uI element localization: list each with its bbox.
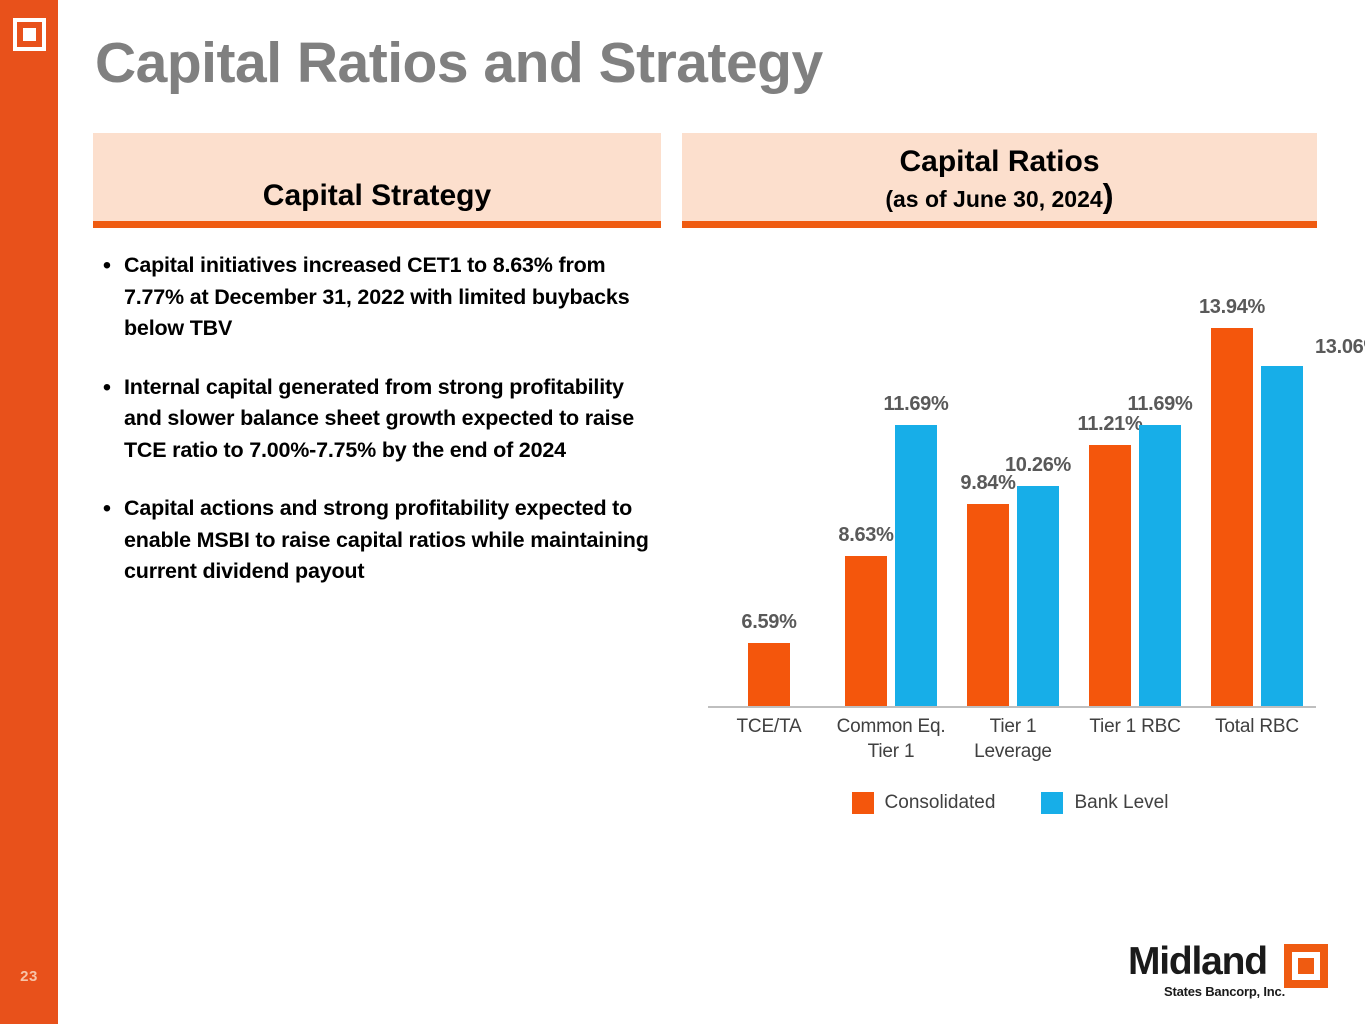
x-axis-label: TCE/TA xyxy=(708,714,830,739)
page-title: Capital Ratios and Strategy xyxy=(95,30,823,96)
bar-value-label: 6.59% xyxy=(741,611,796,634)
legend-swatch-consolidated xyxy=(852,792,874,814)
bar-bank-level: 11.69% xyxy=(895,425,937,707)
company-logo: Midland States Bancorp, Inc. xyxy=(1128,938,1328,1008)
bar-consolidated: 9.84% xyxy=(967,504,1009,707)
capital-ratios-heading: Capital Ratios xyxy=(899,142,1099,178)
bar-bank-level: 13.06% xyxy=(1261,366,1303,707)
bar-group: 8.63%11.69% xyxy=(830,300,952,707)
chart-x-axis-labels: TCE/TACommon Eq.Tier 1Tier 1LeverageTier… xyxy=(708,714,1318,784)
bar-value-label: 11.69% xyxy=(884,393,949,416)
x-axis-label: Common Eq.Tier 1 xyxy=(830,714,952,764)
capital-strategy-panel: Capital Strategy xyxy=(93,133,661,228)
capital-strategy-bullet-list: • Capital initiatives increased CET1 to … xyxy=(90,250,660,615)
page-number: 23 xyxy=(0,968,58,985)
list-item: • Capital initiatives increased CET1 to … xyxy=(90,250,660,345)
legend-label-bank-level: Bank Level xyxy=(1074,792,1168,814)
list-item: • Internal capital generated from strong… xyxy=(90,372,660,467)
x-axis-label: Total RBC xyxy=(1196,714,1318,739)
bar-value-label: 11.21% xyxy=(1078,413,1143,436)
list-item: • Capital actions and strong profitabili… xyxy=(90,493,660,588)
list-item-text: Internal capital generated from strong p… xyxy=(124,372,660,467)
x-axis-label: Tier 1 RBC xyxy=(1074,714,1196,739)
bar-value-label: 13.94% xyxy=(1199,296,1265,319)
bar-consolidated: 6.59% xyxy=(748,643,790,707)
bar-value-label: 10.26% xyxy=(1005,454,1071,477)
bar-group: 13.94%13.06% xyxy=(1196,300,1318,707)
list-item-text: Capital actions and strong profitability… xyxy=(124,493,660,588)
bar-consolidated: 13.94% xyxy=(1211,328,1253,707)
bullet-marker-icon: • xyxy=(90,493,124,588)
chart-axis-line xyxy=(708,706,1316,708)
square-in-square-icon xyxy=(1284,944,1328,988)
capital-ratios-subheading: (as of June 30, 2024) xyxy=(885,177,1113,221)
bar-consolidated: 8.63% xyxy=(845,556,887,708)
bar-consolidated: 11.21% xyxy=(1089,445,1131,707)
bar-value-label: 13.06% xyxy=(1315,336,1365,359)
capital-ratios-panel: Capital Ratios (as of June 30, 2024) xyxy=(682,133,1317,228)
square-in-square-icon xyxy=(13,18,46,51)
bar-bank-level: 11.69% xyxy=(1139,425,1181,707)
capital-ratios-bar-chart: 6.59%8.63%11.69%9.84%10.26%11.21%11.69%1… xyxy=(690,300,1330,830)
left-sidebar: 23 xyxy=(0,0,58,1024)
list-item-text: Capital initiatives increased CET1 to 8.… xyxy=(124,250,660,345)
bar-group: 9.84%10.26% xyxy=(952,300,1074,707)
bar-value-label: 8.63% xyxy=(838,524,893,547)
legend-item-bank-level: Bank Level xyxy=(1041,792,1168,814)
bullet-marker-icon: • xyxy=(90,372,124,467)
subheading-close-paren: ) xyxy=(1103,177,1114,214)
x-axis-label: Tier 1Leverage xyxy=(952,714,1074,764)
bullet-marker-icon: • xyxy=(90,250,124,345)
bar-group: 11.21%11.69% xyxy=(1074,300,1196,707)
chart-plot-area: 6.59%8.63%11.69%9.84%10.26%11.21%11.69%1… xyxy=(708,300,1318,707)
logo-tagline: States Bancorp, Inc. xyxy=(1164,984,1285,999)
capital-strategy-heading: Capital Strategy xyxy=(263,179,491,221)
legend-item-consolidated: Consolidated xyxy=(852,792,996,814)
bar-value-label: 11.69% xyxy=(1128,393,1193,416)
legend-label-consolidated: Consolidated xyxy=(885,792,996,814)
logo-wordmark: Midland xyxy=(1128,940,1267,984)
subheading-text: (as of June 30, 2024 xyxy=(885,186,1102,212)
chart-legend: Consolidated Bank Level xyxy=(690,792,1330,814)
bar-bank-level: 10.26% xyxy=(1017,486,1059,707)
bar-group: 6.59% xyxy=(708,300,830,707)
legend-swatch-bank-level xyxy=(1041,792,1063,814)
